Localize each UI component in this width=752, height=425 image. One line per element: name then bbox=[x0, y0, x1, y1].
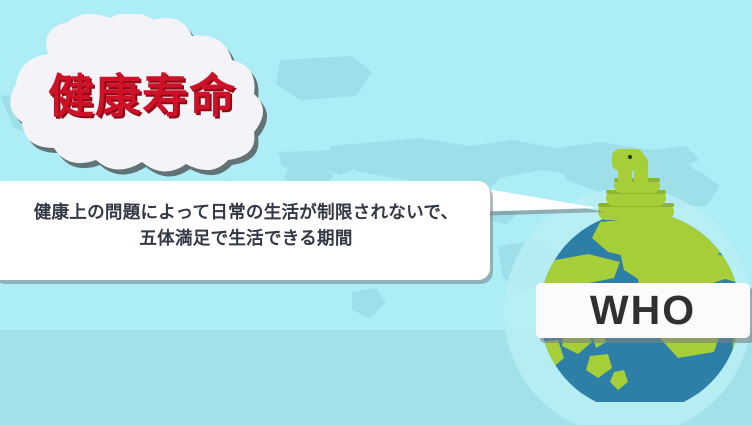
speech-bubble-line-1: 健康上の問題によって日常の生活が制限されないで、 bbox=[6, 200, 486, 226]
speech-bubble-tail bbox=[470, 186, 610, 226]
cloud-banner: 健康寿命 bbox=[0, 14, 296, 184]
speech-bubble-text: 健康上の問題によって日常の生活が制限されないで、 五体満足で生活できる期間 bbox=[6, 200, 486, 252]
who-label-text: WHO bbox=[536, 283, 750, 338]
speech-bubble-line-2: 五体満足で生活できる期間 bbox=[6, 226, 486, 252]
illustration-scene: 健康寿命 健康上の問題によって日常の生活が制限されないで、 五体満足で生活できる… bbox=[0, 0, 752, 425]
cloud-title: 健康寿命 bbox=[0, 60, 288, 126]
